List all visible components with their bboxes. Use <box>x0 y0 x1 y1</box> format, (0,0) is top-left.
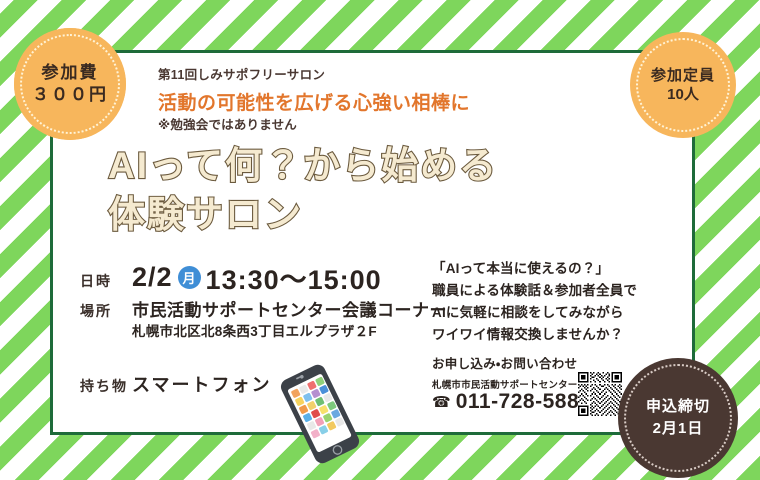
badge-deadline-line1: 申込締切 <box>646 396 710 418</box>
info-label-date: 日時 <box>80 271 132 291</box>
badge-fee-line2: ３００円 <box>32 84 108 106</box>
organizer-name: 札幌市市民活動サポートセンター <box>432 377 578 391</box>
event-blurb: 「AIって本当に使えるの？」 職員による体験話＆参加者全員で AIに気軽に相談を… <box>432 258 637 345</box>
lead-copy: 活動の可能性を広げる心強い相棒に <box>158 88 470 115</box>
info-label-place: 場所 <box>80 301 132 321</box>
series-title: 第11回しみサポフリーサロン <box>158 64 325 83</box>
bring-value: スマートフォン <box>132 371 271 397</box>
phone-number: 011-728-5888 <box>456 390 592 414</box>
poster-canvas: 参加費 ３００円 参加定員 10人 第11回しみサポフリーサロン 活動の可能性を… <box>0 0 760 480</box>
badge-capacity-line2: 10人 <box>667 85 699 105</box>
date-value: 2/2 月 13:30〜15:00 <box>132 258 382 297</box>
phone-icon: ☎ <box>432 395 451 410</box>
badge-capacity-line1: 参加定員 <box>651 66 715 86</box>
badge-fee: 参加費 ３００円 <box>14 28 126 140</box>
badge-capacity: 参加定員 10人 <box>630 32 736 138</box>
page-title: AIって何？から始める 体験サロン <box>108 142 498 240</box>
qr-code-icon[interactable] <box>578 372 622 416</box>
smartphone-icon <box>272 358 368 470</box>
phone-line: ☎ 011-728-5888 <box>432 390 591 414</box>
info-row-bring: 持ち物 スマートフォン <box>80 371 271 397</box>
info-label-bring: 持ち物 <box>80 376 132 396</box>
badge-deadline: 申込締切 2月1日 <box>618 358 738 478</box>
date-text: 2/2 <box>132 262 173 293</box>
contact-heading: お申し込み・お問い合わせ <box>432 353 577 372</box>
info-row-place: 場所 市民活動サポートセンター会議コーナー <box>80 296 447 321</box>
badge-fee-line1: 参加費 <box>42 62 99 84</box>
info-row-date: 日時 2/2 月 13:30〜15:00 <box>80 258 382 297</box>
disclaimer-note: ※勉強会ではありません <box>158 114 297 133</box>
badge-deadline-line2: 2月1日 <box>653 418 704 440</box>
time-text: 13:30〜15:00 <box>206 258 382 297</box>
place-address: 札幌市北区北8条西3丁目エルプラザ２F <box>132 320 377 340</box>
day-of-week-badge: 月 <box>178 266 201 289</box>
place-value: 市民活動サポートセンター会議コーナー <box>132 296 447 321</box>
